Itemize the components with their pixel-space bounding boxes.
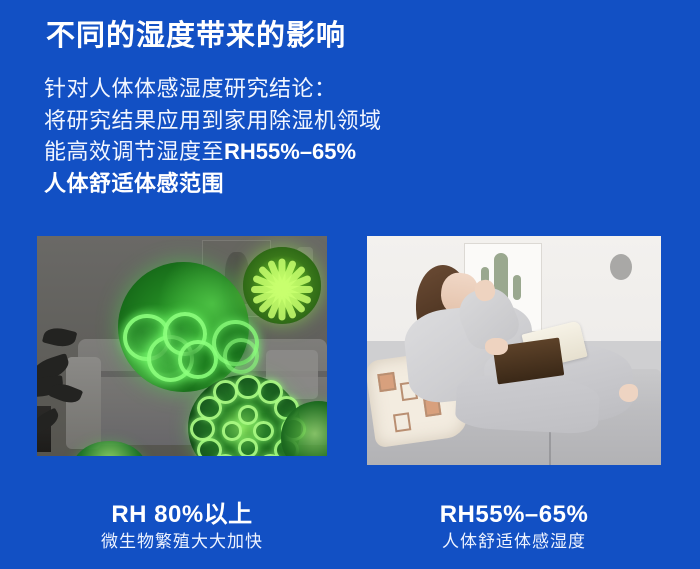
caption-left: RH 80%以上 微生物繁殖大大加快 [37,500,327,554]
microbe-cluster-top [243,247,321,324]
page-title: 不同的湿度带来的影响 [46,19,346,53]
microbe-dot [253,421,274,441]
microbe-dot [213,380,238,404]
microbe-cluster-large [118,262,249,392]
intro-humidity-range: RH55%–65% [224,139,356,164]
caption-right-sub: 人体舒适体感湿度 [367,530,661,554]
microbe-dot [222,421,243,441]
microbe-dot [238,438,259,456]
hand-holding-book [485,338,507,355]
pillow-pattern [377,372,396,392]
leaf-icon [42,324,78,349]
caption-left-title: RH 80%以上 [37,500,327,530]
intro-paragraph: 针对人体体感湿度研究结论： 将研究结果应用到家用除湿机领域 能高效调节湿度至RH… [44,73,382,199]
woman-reading [396,261,643,453]
microbe-dot [238,405,259,425]
caption-right-title: RH55%–65% [367,500,661,530]
photo-mold-room-canvas [37,236,327,456]
photo-mold-room [37,236,327,456]
microbe-dot [235,375,260,399]
foot [619,384,639,401]
caption-right: RH55%–65% 人体舒适体感湿度 [367,500,661,554]
poster-root: 不同的湿度带来的影响 针对人体体感湿度研究结论： 将研究结果应用到家用除湿机领域… [0,0,700,569]
photo-comfort-room [367,236,661,465]
photo-comfort-room-canvas [367,236,661,465]
microbe-dot [190,417,215,441]
caption-left-sub: 微生物繁殖大大加快 [37,530,327,554]
intro-line-4: 人体舒适体感范围 [44,168,382,200]
dark-potted-plant [37,324,112,452]
intro-line-1: 针对人体体感湿度研究结论： [44,73,382,105]
intro-line-3-prefix: 能高效调节湿度至 [44,139,224,164]
intro-line-2: 将研究结果应用到家用除湿机领域 [44,105,382,137]
intro-line-3: 能高效调节湿度至RH55%–65% [44,136,382,168]
